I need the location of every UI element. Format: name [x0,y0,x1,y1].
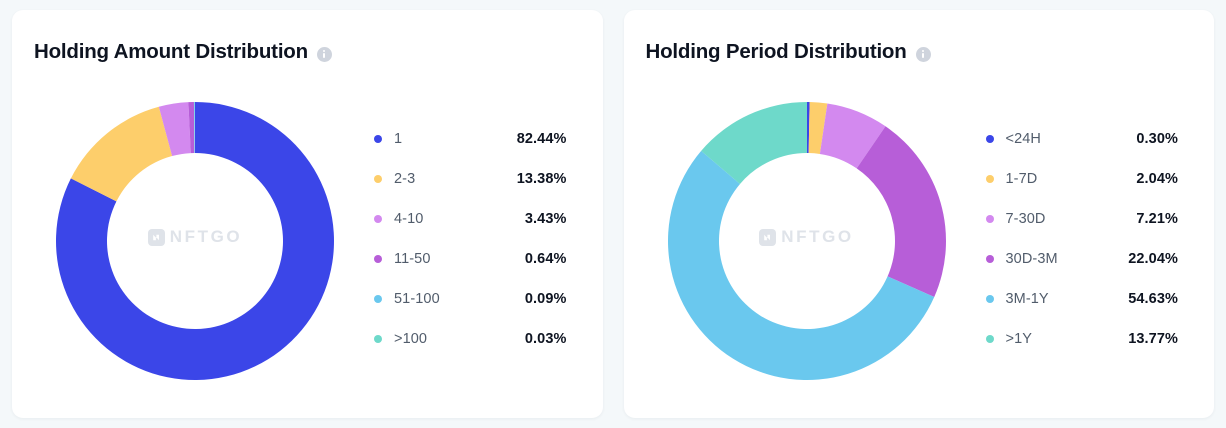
card-header: Holding Amount Distribution [34,40,332,64]
donut-chart-holding-amount[interactable]: NFTGO [45,91,345,391]
legend-value: 54.63% [1128,291,1178,307]
legend-label: 51-100 [394,291,440,307]
legend-item[interactable]: 30D-3M22.04% [986,239,1179,279]
legend-color-dot-icon [986,175,994,183]
legend-label: 3M-1Y [1006,291,1049,307]
chart-body: NFTGO 182.44%2-313.38%4-103.43%11-500.64… [12,91,603,391]
legend-value: 7.21% [1136,211,1178,227]
legend-value: 82.44% [517,131,567,147]
legend-item[interactable]: 7-30D7.21% [986,199,1179,239]
legend-label: 2-3 [394,171,415,187]
legend-value: 0.30% [1136,131,1178,147]
chart-legend: <24H0.30%1-7D2.04%7-30D7.21%30D-3M22.04%… [986,119,1179,359]
legend-item[interactable]: >1Y13.77% [986,319,1179,359]
legend-label: <24H [1006,131,1041,147]
chart-legend: 182.44%2-313.38%4-103.43%11-500.64%51-10… [374,119,567,359]
legend-item[interactable]: 3M-1Y54.63% [986,279,1179,319]
legend-item[interactable]: <24H0.30% [986,119,1179,159]
info-icon[interactable] [916,47,931,62]
legend-color-dot-icon [374,135,382,143]
holding-period-distribution-card: Holding Period Distribution NFTGO <24H0.… [624,10,1215,418]
legend-label: 4-10 [394,211,423,227]
legend-color-dot-icon [374,215,382,223]
donut-svg [45,91,345,391]
legend-label: 1-7D [1006,171,1038,187]
legend-item[interactable]: 1-7D2.04% [986,159,1179,199]
donut-svg [657,91,957,391]
legend-color-dot-icon [374,335,382,343]
legend-value: 2.04% [1136,171,1178,187]
legend-value: 3.43% [525,211,567,227]
donut-slices[interactable] [56,102,334,380]
legend-value: 0.03% [525,331,567,347]
legend-color-dot-icon [986,135,994,143]
legend-value: 13.77% [1128,331,1178,347]
legend-value: 0.64% [525,251,567,267]
legend-value: 0.09% [525,291,567,307]
legend-value: 22.04% [1128,251,1178,267]
legend-color-dot-icon [986,295,994,303]
legend-color-dot-icon [374,255,382,263]
legend-color-dot-icon [986,215,994,223]
page-title: Holding Period Distribution [646,40,907,64]
donut-slice[interactable] [856,126,945,297]
legend-label: 1 [394,131,402,147]
legend-item[interactable]: 2-313.38% [374,159,567,199]
legend-item[interactable]: >1000.03% [374,319,567,359]
legend-item[interactable]: 182.44% [374,119,567,159]
legend-item[interactable]: 11-500.64% [374,239,567,279]
chart-body: NFTGO <24H0.30%1-7D2.04%7-30D7.21%30D-3M… [624,91,1215,391]
legend-label: >100 [394,331,427,347]
donut-chart-holding-period[interactable]: NFTGO [657,91,957,391]
legend-value: 13.38% [517,171,567,187]
legend-item[interactable]: 4-103.43% [374,199,567,239]
donut-slices[interactable] [668,102,946,380]
dashboard-charts-row: Holding Amount Distribution NFTGO 182.44… [0,0,1226,428]
legend-item[interactable]: 51-1000.09% [374,279,567,319]
legend-label: 30D-3M [1006,251,1058,267]
legend-color-dot-icon [374,295,382,303]
card-header: Holding Period Distribution [646,40,931,64]
legend-label: >1Y [1006,331,1033,347]
legend-color-dot-icon [374,175,382,183]
info-icon[interactable] [317,47,332,62]
legend-color-dot-icon [986,335,994,343]
legend-label: 11-50 [394,251,431,267]
holding-amount-distribution-card: Holding Amount Distribution NFTGO 182.44… [12,10,603,418]
legend-label: 7-30D [1006,211,1046,227]
legend-color-dot-icon [986,255,994,263]
page-title: Holding Amount Distribution [34,40,308,64]
